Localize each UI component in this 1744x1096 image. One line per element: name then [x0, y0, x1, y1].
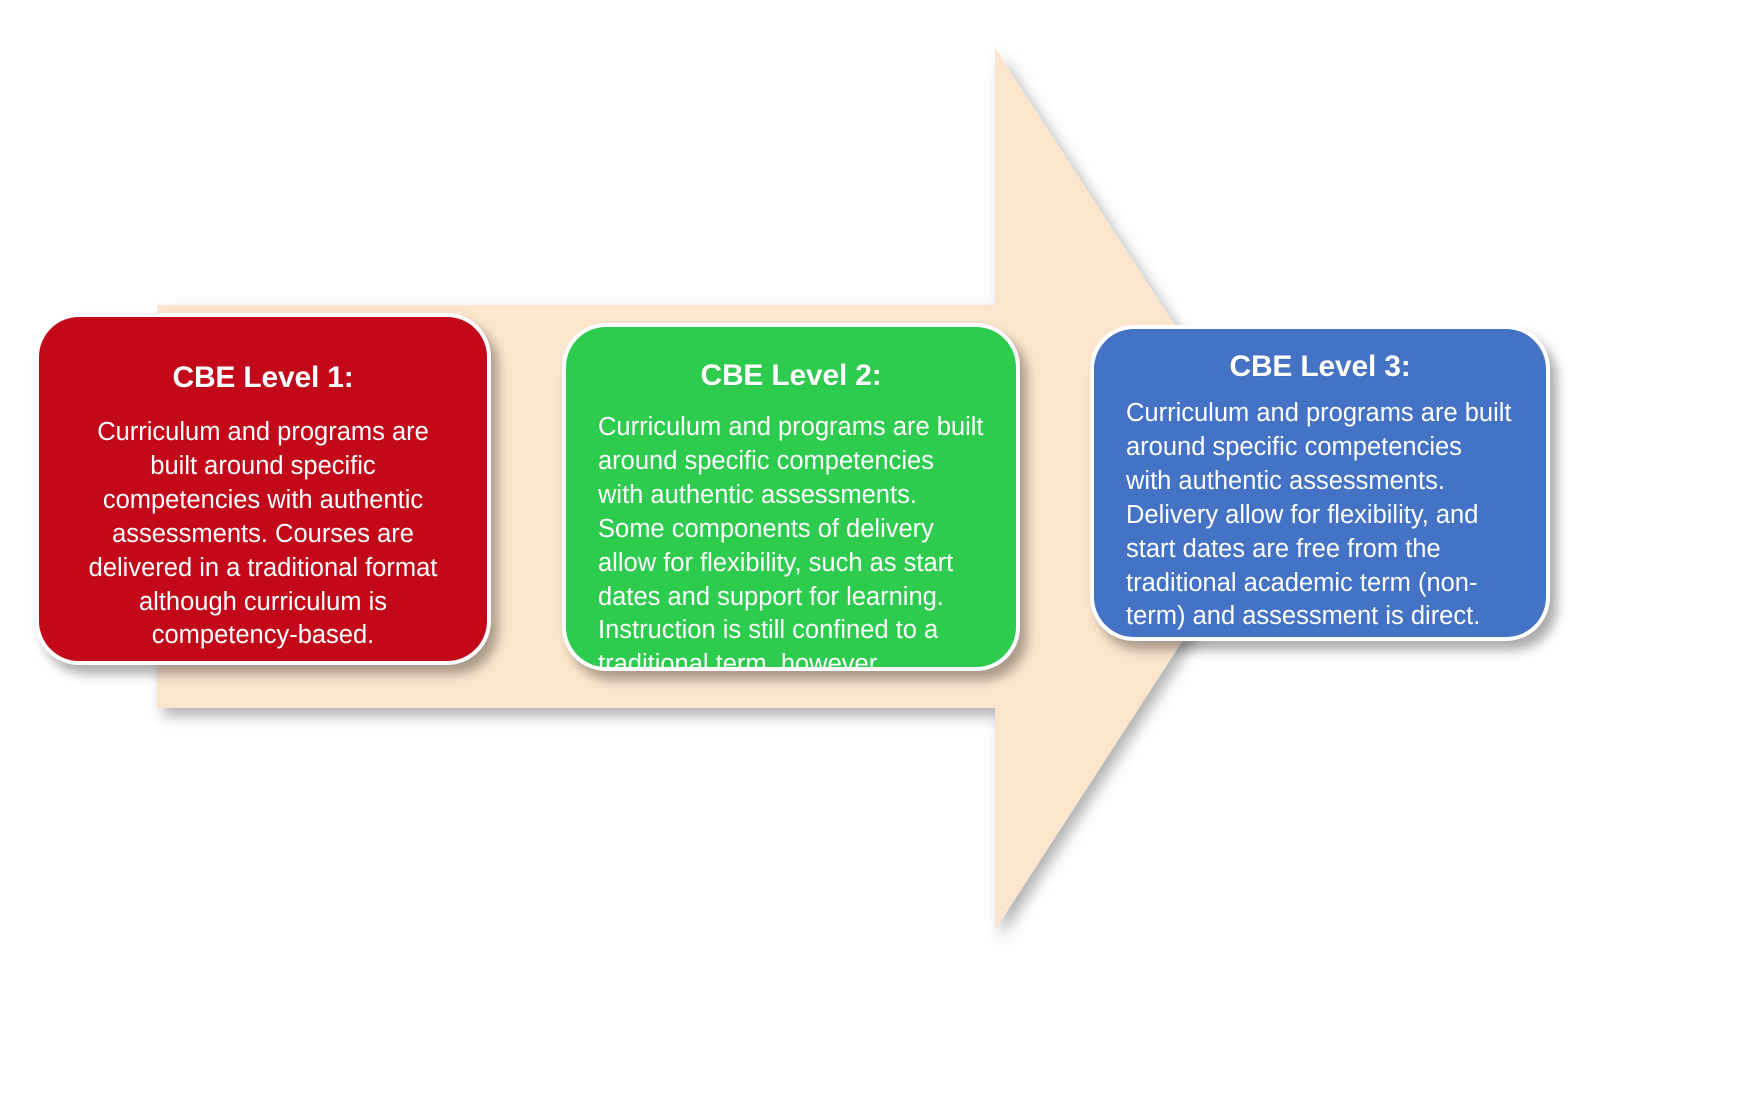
- card-cbe-level-2[interactable]: CBE Level 2: Curriculum and programs are…: [562, 323, 1020, 671]
- card-level-1-body: Curriculum and programs are built around…: [61, 416, 465, 653]
- card-level-3-title: CBE Level 3:: [1114, 350, 1526, 383]
- card-cbe-level-3[interactable]: CBE Level 3: Curriculum and programs are…: [1090, 325, 1550, 641]
- diagram-canvas: CBE Level 1: Curriculum and programs are…: [0, 0, 1744, 1096]
- card-level-2-title: CBE Level 2:: [586, 359, 996, 392]
- card-cbe-level-1[interactable]: CBE Level 1: Curriculum and programs are…: [35, 313, 491, 665]
- card-level-2-body: Curriculum and programs are built around…: [586, 411, 996, 671]
- card-level-1-title: CBE Level 1:: [61, 361, 465, 394]
- card-level-3-body: Curriculum and programs are built around…: [1114, 397, 1526, 641]
